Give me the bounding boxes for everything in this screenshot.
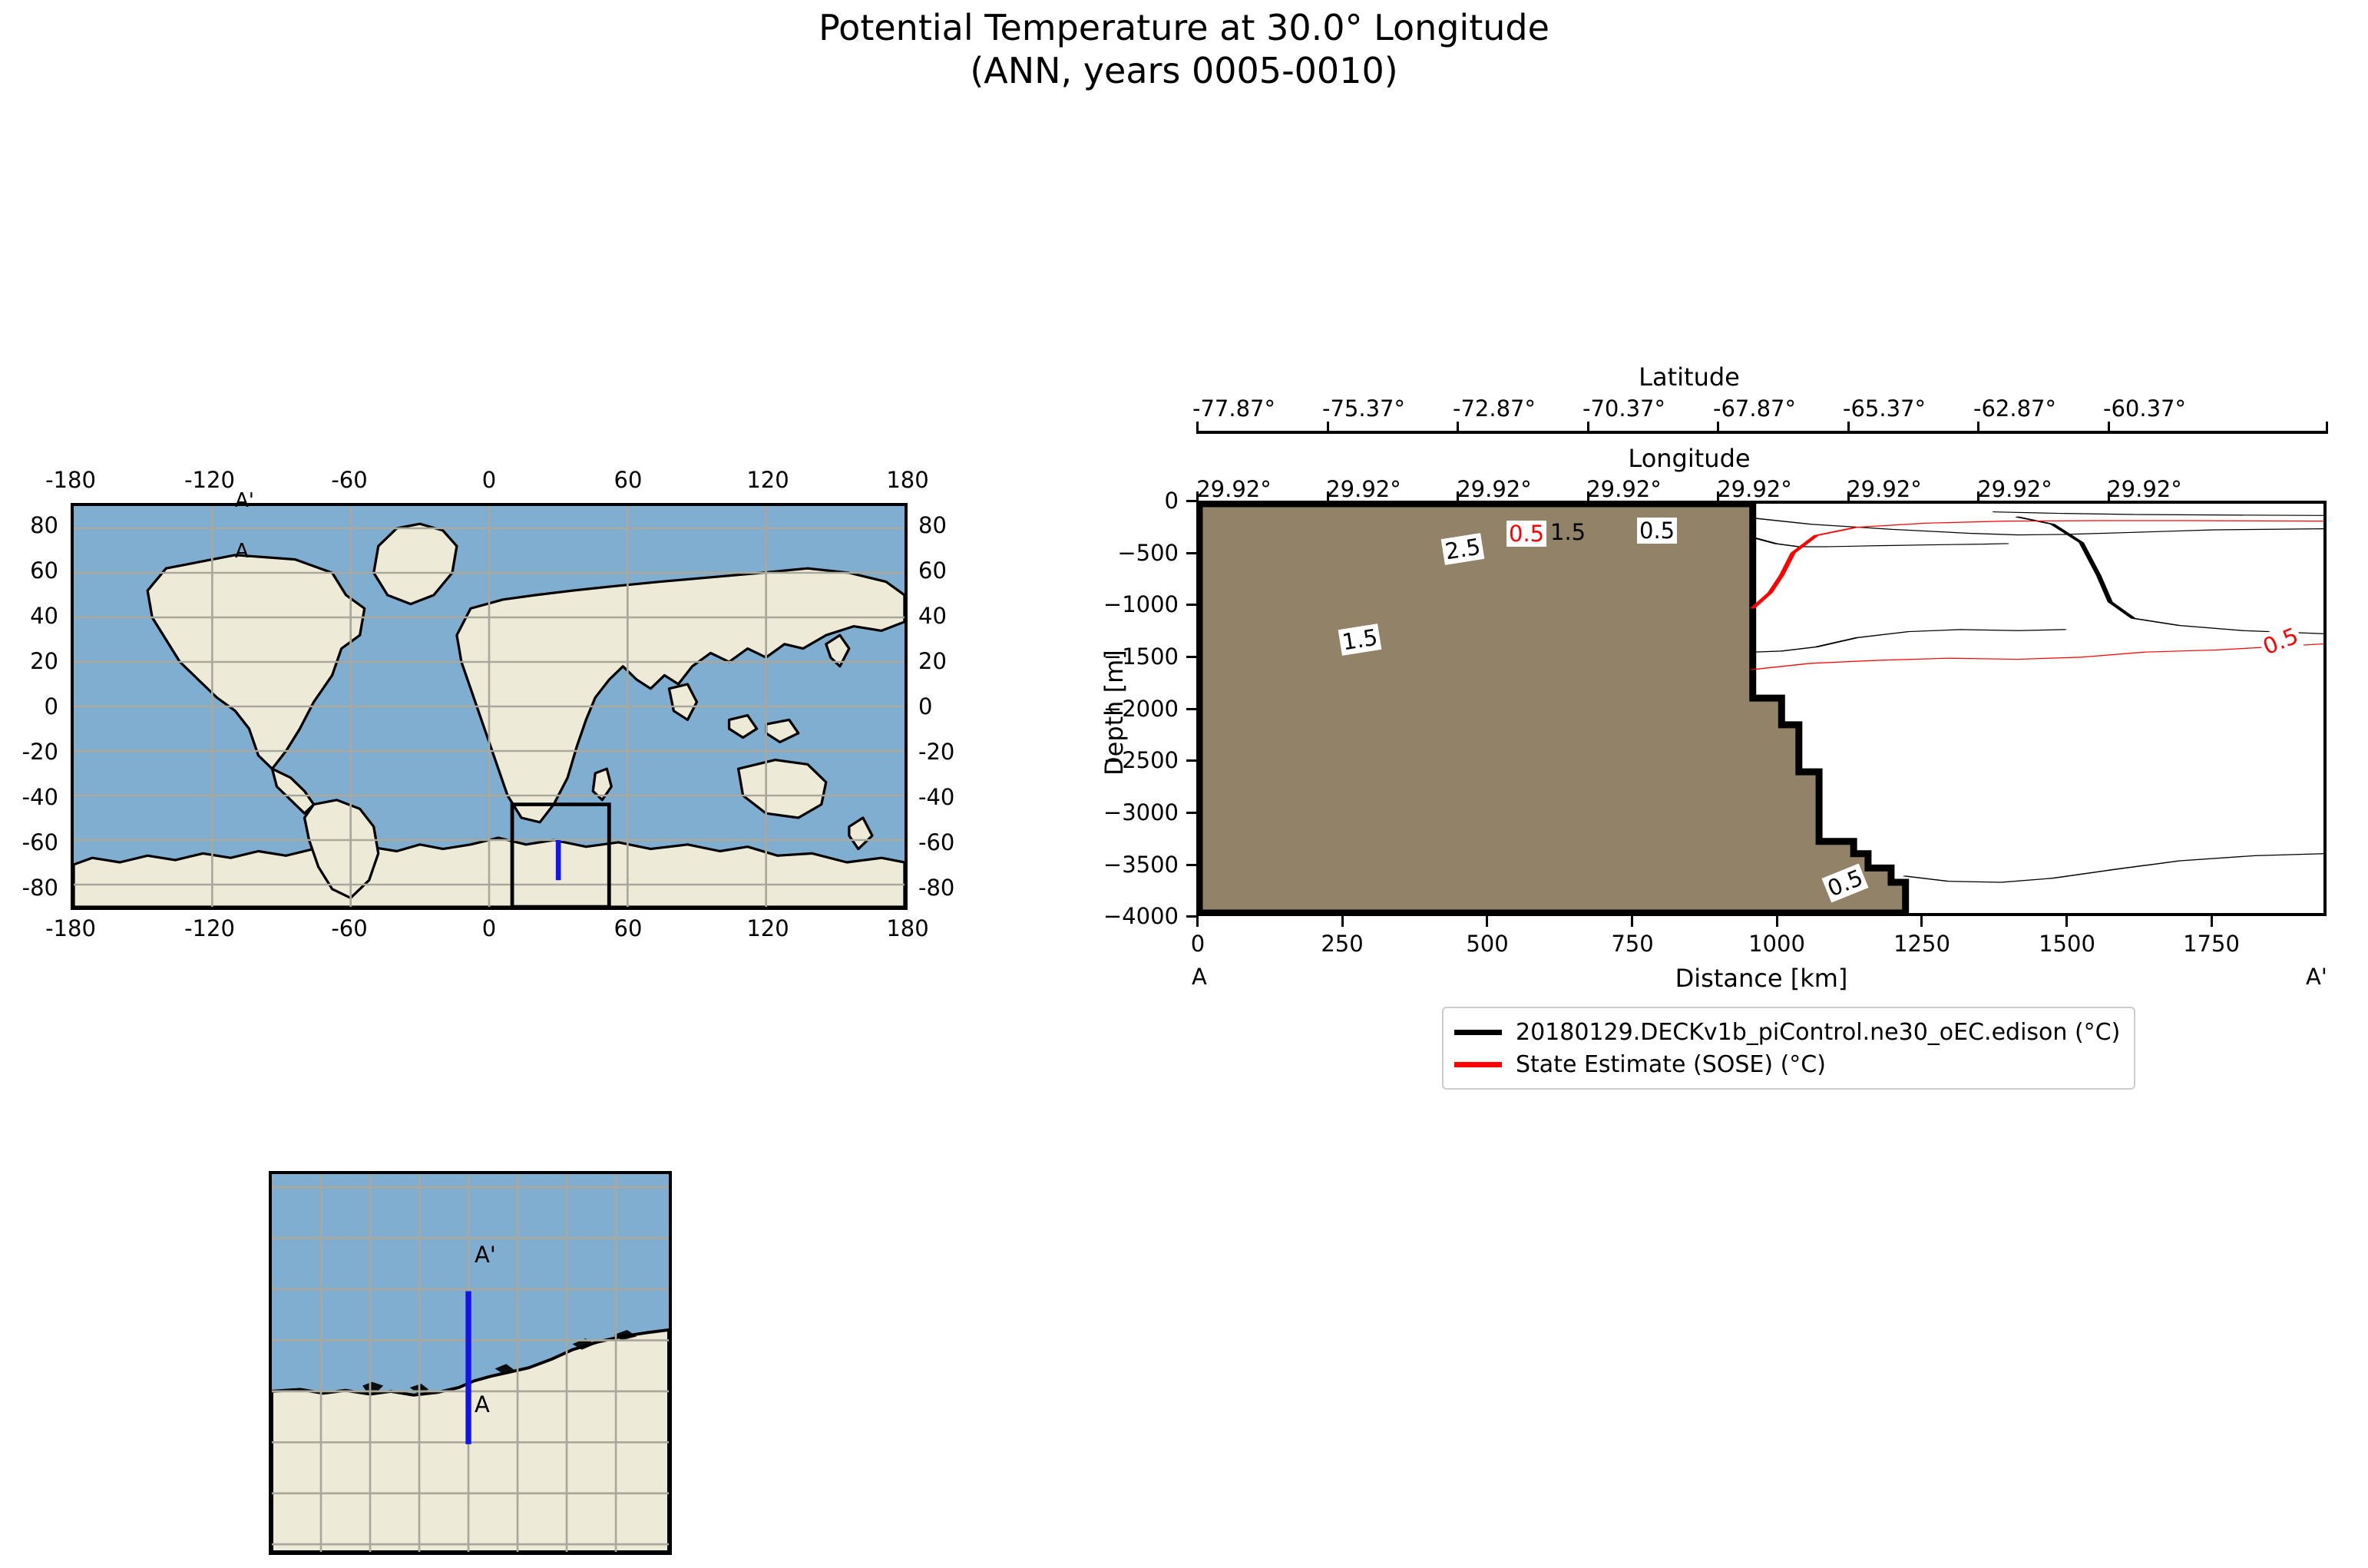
- distance-tickmark-1: [1341, 916, 1344, 927]
- distance-tickmark-7: [2211, 916, 2213, 927]
- world-map-ytick-left-5: -20: [8, 739, 58, 765]
- depth-tick-6: −3000: [1044, 799, 1179, 825]
- world-map-ytick-right-0: 80: [918, 512, 969, 538]
- world-map-ytick-left-4: 0: [8, 693, 58, 719]
- world-map-xtick-top-5: 120: [746, 467, 789, 493]
- world-map-xtick-top-0: -180: [45, 467, 96, 493]
- cross-section-graphic: [1199, 504, 2323, 913]
- inset-map-panel[interactable]: A' A: [269, 1171, 672, 1555]
- world-map-xtick-bottom-5: 120: [746, 915, 789, 941]
- world-map-transect-start-label: A: [235, 540, 249, 563]
- latitude-tick-6: -62.87°: [1973, 395, 2056, 422]
- latitude-tick-4: -67.87°: [1713, 395, 1796, 422]
- longitude-tick-7: 29.92°: [2107, 476, 2182, 502]
- world-map-ytick-right-7: -60: [918, 829, 969, 855]
- distance-tickmark-6: [2065, 916, 2068, 927]
- longitude-tick-0: 29.92°: [1196, 476, 1272, 502]
- model-contour-1p5-left: [1753, 630, 2064, 652]
- longitude-tick-3: 29.92°: [1586, 476, 1662, 502]
- world-map-xtick-top-3: 0: [482, 467, 496, 493]
- distance-tick-4: 1000: [1748, 931, 1805, 957]
- depth-tickmark-4: [1186, 708, 1196, 710]
- longitude-tick-5: 29.92°: [1847, 476, 1922, 502]
- depth-tick-0: 0: [1044, 488, 1179, 514]
- longitude-axis-label: Longitude: [1628, 444, 1750, 473]
- latitude-tickmark-end: [2326, 422, 2328, 432]
- world-map-transect-end-label: A': [235, 489, 254, 512]
- world-map-frame: [71, 503, 908, 910]
- sose-contours: [1753, 521, 2323, 670]
- depth-tickmark-2: [1186, 604, 1196, 606]
- depth-tick-3: −1500: [1044, 643, 1179, 670]
- latitude-tickmark-7: [2108, 422, 2110, 432]
- cross-section-plot[interactable]: 2.5 0.5 1.5 0.5 1.5 0.5 0.5: [1196, 501, 2327, 916]
- legend-label-model: 20180129.DECKv1b_piControl.ne30_oEC.edis…: [1516, 1019, 2120, 1046]
- contour-label-red-0p5-top: 0.5: [1506, 521, 1546, 547]
- world-map-ytick-right-2: 40: [918, 603, 969, 629]
- latitude-tick-1: -75.37°: [1322, 395, 1405, 422]
- latitude-spine: [1196, 431, 2328, 434]
- legend-swatch-model: [1454, 1030, 1502, 1035]
- distance-axis-label: Distance [km]: [1675, 964, 1848, 993]
- latitude-tick-5: -65.37°: [1843, 395, 1926, 422]
- world-map-ytick-right-8: -80: [918, 875, 969, 901]
- cross-section-end-label: A': [2306, 964, 2327, 990]
- latitude-tick-0: -77.87°: [1192, 395, 1275, 422]
- world-map-ytick-left-3: 20: [8, 648, 58, 674]
- distance-tick-0: 0: [1191, 931, 1205, 957]
- depth-tickmark-8: [1186, 915, 1196, 918]
- world-map-ytick-right-1: 60: [918, 557, 969, 584]
- longitude-tick-2: 29.92°: [1457, 476, 1532, 502]
- model-contours: [1753, 512, 2323, 882]
- longitude-tick-1: 29.92°: [1326, 476, 1401, 502]
- latitude-tick-3: -70.37°: [1583, 395, 1665, 422]
- world-map-panel[interactable]: A' A: [71, 503, 908, 910]
- legend-entry-model: 20180129.DECKv1b_piControl.ne30_oEC.edis…: [1454, 1016, 2120, 1048]
- depth-tick-7: −3500: [1044, 852, 1179, 878]
- world-map-xtick-bottom-0: -180: [45, 915, 96, 941]
- bathymetry-mask: [1199, 504, 1906, 913]
- figure-title-line1: Potential Temperature at 30.0° Longitude: [819, 7, 1549, 48]
- inset-transect-start-label: A: [475, 1391, 490, 1417]
- distance-tick-2: 500: [1466, 931, 1508, 957]
- world-map-xtick-bottom-4: 60: [614, 915, 643, 941]
- world-map-ytick-right-3: 20: [918, 648, 969, 674]
- depth-tickmark-3: [1186, 656, 1196, 658]
- figure-title: Potential Temperature at 30.0° Longitude…: [0, 6, 2368, 92]
- distance-tickmark-0: [1196, 916, 1199, 927]
- latitude-axis-label: Latitude: [1639, 362, 1740, 392]
- world-map-ytick-left-2: 40: [8, 603, 58, 629]
- depth-tickmark-6: [1186, 812, 1196, 814]
- latitude-tickmark-6: [1977, 422, 1979, 432]
- distance-tickmark-4: [1776, 916, 1778, 927]
- latitude-tick-7: -60.37°: [2103, 395, 2186, 422]
- distance-tickmark-5: [1920, 916, 1923, 927]
- cross-section-start-label: A: [1192, 964, 1207, 990]
- world-map-xtick-top-4: 60: [614, 467, 643, 493]
- latitude-tickmark-2: [1457, 422, 1459, 432]
- latitude-tick-2: -72.87°: [1453, 395, 1536, 422]
- longitude-tick-4: 29.92°: [1717, 476, 1792, 502]
- world-map-xtick-bottom-2: -60: [331, 915, 367, 941]
- inset-map-frame: [269, 1171, 672, 1555]
- world-map-graphic: [74, 506, 905, 907]
- distance-tick-3: 750: [1611, 931, 1653, 957]
- model-contour-2p5-lower: [1753, 538, 2006, 547]
- world-map-ytick-left-0: 80: [8, 512, 58, 538]
- depth-tickmark-1: [1186, 552, 1196, 554]
- depth-tick-5: −2500: [1044, 747, 1179, 773]
- world-map-ytick-left-6: -40: [8, 784, 58, 810]
- depth-tick-8: −4000: [1044, 903, 1179, 929]
- depth-tick-2: −1000: [1044, 591, 1179, 617]
- latitude-tickmark-5: [1847, 422, 1850, 432]
- distance-tick-5: 1250: [1893, 931, 1950, 957]
- legend-swatch-sose: [1454, 1062, 1502, 1067]
- depth-tickmark-7: [1186, 864, 1196, 866]
- distance-tickmark-2: [1486, 916, 1488, 927]
- distance-tickmark-3: [1631, 916, 1633, 927]
- world-map-ytick-left-7: -60: [8, 829, 58, 855]
- inset-transect-end-label: A': [475, 1242, 496, 1268]
- world-map-ytick-right-5: -20: [918, 739, 969, 765]
- depth-tickmark-5: [1186, 759, 1196, 762]
- world-map-ytick-left-8: -80: [8, 875, 58, 901]
- contour-label-black-1p5-top: 1.5: [1549, 519, 1587, 545]
- inset-map-graphic: [272, 1174, 669, 1552]
- world-map-ytick-left-1: 60: [8, 557, 58, 584]
- legend: 20180129.DECKv1b_piControl.ne30_oEC.edis…: [1442, 1007, 2135, 1090]
- distance-tick-7: 1750: [2183, 931, 2240, 957]
- figure-title-line2: (ANN, years 0005-0010): [0, 49, 2368, 92]
- world-map-xtick-bottom-1: -120: [184, 915, 235, 941]
- distance-tick-6: 1500: [2039, 931, 2095, 957]
- world-map-ytick-right-4: 0: [918, 693, 969, 719]
- world-map-xtick-bottom-3: 0: [482, 915, 496, 941]
- depth-tick-4: −2000: [1044, 696, 1179, 722]
- latitude-tickmark-4: [1717, 422, 1719, 432]
- world-map-xtick-top-1: -120: [184, 467, 235, 493]
- latitude-tickmark-0: [1196, 422, 1199, 432]
- sose-contour-0p5-upper: [1753, 521, 2323, 608]
- distance-tick-1: 250: [1321, 931, 1363, 957]
- depth-tickmark-0: [1186, 500, 1196, 502]
- depth-tick-1: −500: [1044, 540, 1179, 566]
- latitude-tickmark-3: [1587, 422, 1589, 432]
- world-map-xtick-top-2: -60: [331, 467, 367, 493]
- cross-section-frame: 2.5 0.5 1.5 0.5 1.5 0.5 0.5: [1196, 501, 2327, 916]
- legend-label-sose: State Estimate (SOSE) (°C): [1516, 1051, 1826, 1078]
- model-contour-0p5-surface: [1995, 512, 2323, 516]
- sose-contour-0p5-lower: [1753, 644, 2323, 670]
- latitude-tickmark-1: [1327, 422, 1329, 432]
- contour-label-black-0p5-surface: 0.5: [1637, 518, 1677, 544]
- model-contour-0p5-deep: [1906, 854, 2323, 882]
- world-map-xtick-bottom-6: 180: [886, 915, 928, 941]
- world-map-ytick-right-6: -40: [918, 784, 969, 810]
- longitude-tick-6: 29.92°: [1977, 476, 2052, 502]
- legend-entry-sose: State Estimate (SOSE) (°C): [1454, 1048, 2120, 1080]
- world-map-xtick-top-6: 180: [886, 467, 928, 493]
